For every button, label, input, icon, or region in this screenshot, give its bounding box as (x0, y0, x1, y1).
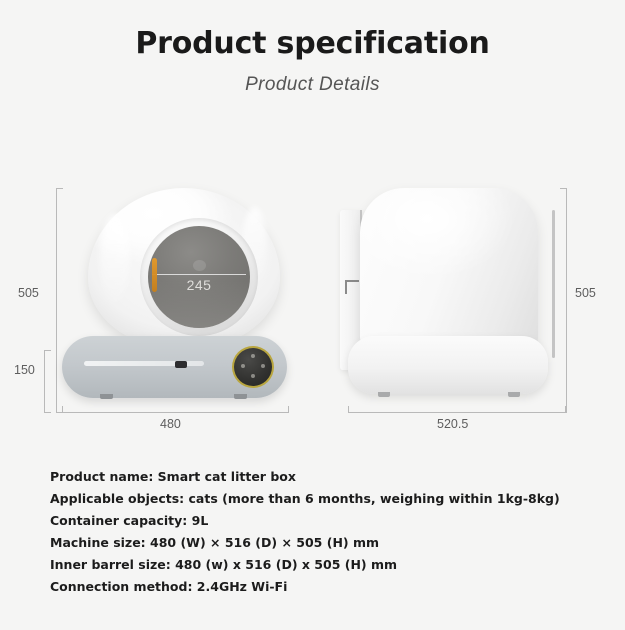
dimension-tick-front-width-right (288, 406, 289, 413)
dome-opening-interior: 245 (148, 226, 250, 328)
base-sensor-icon (175, 361, 187, 368)
drum-display-value: 245 (148, 277, 250, 293)
dimension-label-front-height: 505 (18, 286, 39, 300)
spec-line-applicable-objects: Applicable objects: cats (more than 6 mo… (50, 488, 610, 510)
side-foot-left (378, 392, 390, 397)
specification-list: Product name: Smart cat litter box Appli… (50, 466, 610, 598)
dimension-label-front-width: 480 (160, 417, 181, 431)
page-header: Product specification Product Details (0, 0, 625, 96)
dimension-label-base-height: 150 (14, 363, 35, 377)
page-subtitle: Product Details (0, 61, 625, 96)
page-title: Product specification (0, 0, 625, 61)
orange-accent-strip (152, 258, 157, 293)
dome-highlight-left (100, 214, 131, 304)
front-foot-right (234, 394, 247, 399)
side-right-edge (552, 210, 555, 358)
control-dial (232, 346, 274, 388)
dimension-tick-base-height-top (44, 350, 51, 351)
product-side-view (340, 188, 555, 413)
litter-box-side-body (360, 188, 538, 360)
litter-box-side-base (348, 336, 548, 394)
drum-divider-line (152, 274, 246, 275)
side-foot-right (508, 392, 520, 397)
litter-box-base (62, 336, 287, 398)
dial-dot-left (241, 364, 245, 368)
spec-line-inner-barrel-size: Inner barrel size: 480 (w) x 516 (D) x 5… (50, 554, 610, 576)
dimension-tick-base-height-bottom (44, 412, 51, 413)
side-hook-bracket-icon (345, 280, 359, 294)
front-foot-left (100, 394, 113, 399)
drum-center-knob (193, 260, 206, 271)
dial-dot-right (261, 364, 265, 368)
spec-line-connection-method: Connection method: 2.4GHz Wi-Fi (50, 576, 610, 598)
litter-box-dome: 245 (88, 188, 280, 348)
spec-line-container-capacity: Container capacity: 9L (50, 510, 610, 532)
dimension-tick-side-depth-right (565, 406, 566, 413)
dimension-label-side-height: 505 (575, 286, 596, 300)
dial-dot-bottom (251, 374, 255, 378)
spec-line-machine-size: Machine size: 480 (W) × 516 (D) × 505 (H… (50, 532, 610, 554)
control-dial-face (234, 348, 272, 386)
dome-opening-ring: 245 (140, 218, 258, 336)
product-diagram: 505 150 480 505 520.5 245 (0, 160, 625, 450)
dimension-line-front-height (56, 188, 57, 412)
dimension-tick-side-height-top (560, 188, 567, 189)
dimension-line-base-height (44, 350, 45, 412)
dimension-label-side-depth: 520.5 (437, 417, 468, 431)
dimension-line-side-height (566, 188, 567, 412)
dial-dot-top (251, 354, 255, 358)
product-front-view: 245 (62, 188, 287, 413)
spec-line-product-name: Product name: Smart cat litter box (50, 466, 610, 488)
